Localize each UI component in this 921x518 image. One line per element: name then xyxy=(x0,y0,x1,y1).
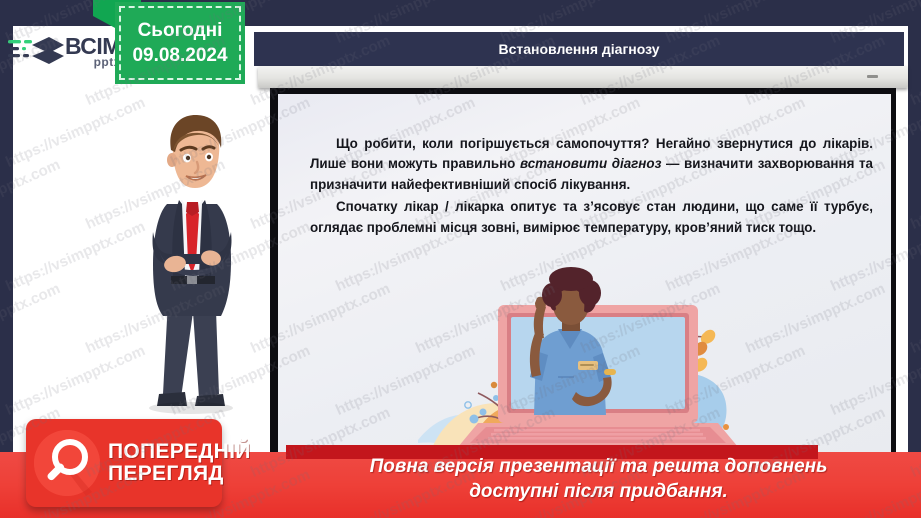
today-date-badge: Сьогодні 09.08.2024 xyxy=(115,2,245,84)
banner-line1: Повна версія презентації та решта доповн… xyxy=(276,454,921,479)
banner-line2: доступні після придбання. xyxy=(276,479,921,504)
preview-badge-line2: ПЕРЕГЛЯД xyxy=(108,463,251,485)
doctor-on-laptop-illustration xyxy=(408,265,788,455)
presentation-slide: ВСІМ pptx Сьогодні 09.08.2024 Встановлен… xyxy=(0,0,921,518)
slide-title-bar: Встановлення діагнозу xyxy=(254,32,904,66)
businessman-character xyxy=(123,112,258,422)
magnifier-icon xyxy=(34,430,100,496)
today-label: Сьогодні xyxy=(138,20,223,42)
today-date: 09.08.2024 xyxy=(132,45,227,67)
body-run: Спочатку лікар / лікарка опитує та з’ясо… xyxy=(310,199,873,234)
watermark-text: https://vsimpptx.com xyxy=(908,32,921,109)
brand-logo: ВСІМ pptx xyxy=(8,28,126,74)
body-paragraph: Спочатку лікар / лікарка опитує та з’ясо… xyxy=(310,197,873,238)
emphasised-term: встановити діагноз xyxy=(520,156,661,171)
graduation-cap-icon xyxy=(8,31,64,71)
page-title: Встановлення діагнозу xyxy=(498,41,659,57)
slide-body-text: Що робити, коли погіршується самопочуття… xyxy=(310,134,873,238)
body-paragraph: Що робити, коли погіршується самопочуття… xyxy=(310,134,873,195)
preview-badge-line1: ПОПЕРЕДНІЙ xyxy=(108,441,251,463)
preview-badge[interactable]: ПОПЕРЕДНІЙ ПЕРЕГЛЯД xyxy=(26,419,222,507)
projector-screen-housing xyxy=(258,66,908,88)
watermark-text: https://vsimpptx.com xyxy=(908,156,921,233)
projector-screen-frame: Що робити, коли погіршується самопочуття… xyxy=(270,88,896,460)
projector-screen: Що робити, коли погіршується самопочуття… xyxy=(258,66,908,466)
projector-screen-surface: Що робити, коли погіршується самопочуття… xyxy=(278,94,891,455)
watermark-text: https://vsimpptx.com xyxy=(908,280,921,357)
